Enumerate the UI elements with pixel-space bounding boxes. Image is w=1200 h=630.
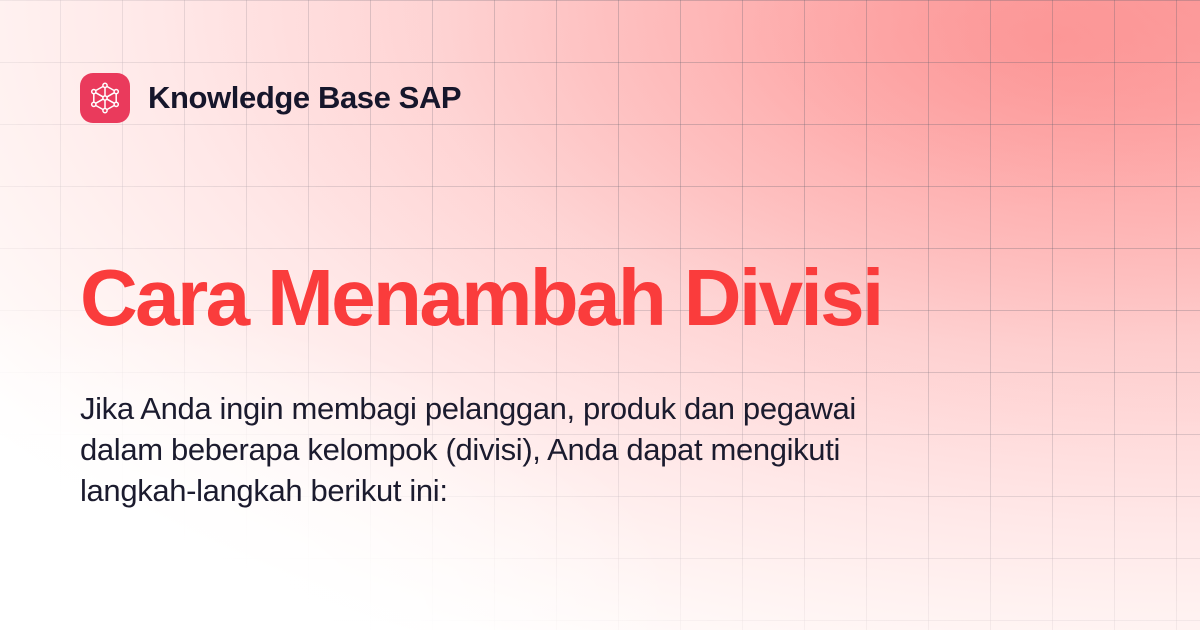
cube-network-nodes-icon [80, 73, 130, 123]
page-title: Cara Menambah Divisi [80, 258, 882, 338]
card-content: Knowledge Base SAP Cara Menambah Divisi … [0, 0, 1200, 630]
page-description: Jika Anda ingin membagi pelanggan, produ… [80, 388, 900, 511]
brand-lockup: Knowledge Base SAP [80, 73, 461, 123]
og-card: Knowledge Base SAP Cara Menambah Divisi … [0, 0, 1200, 630]
brand-name: Knowledge Base SAP [148, 80, 461, 116]
